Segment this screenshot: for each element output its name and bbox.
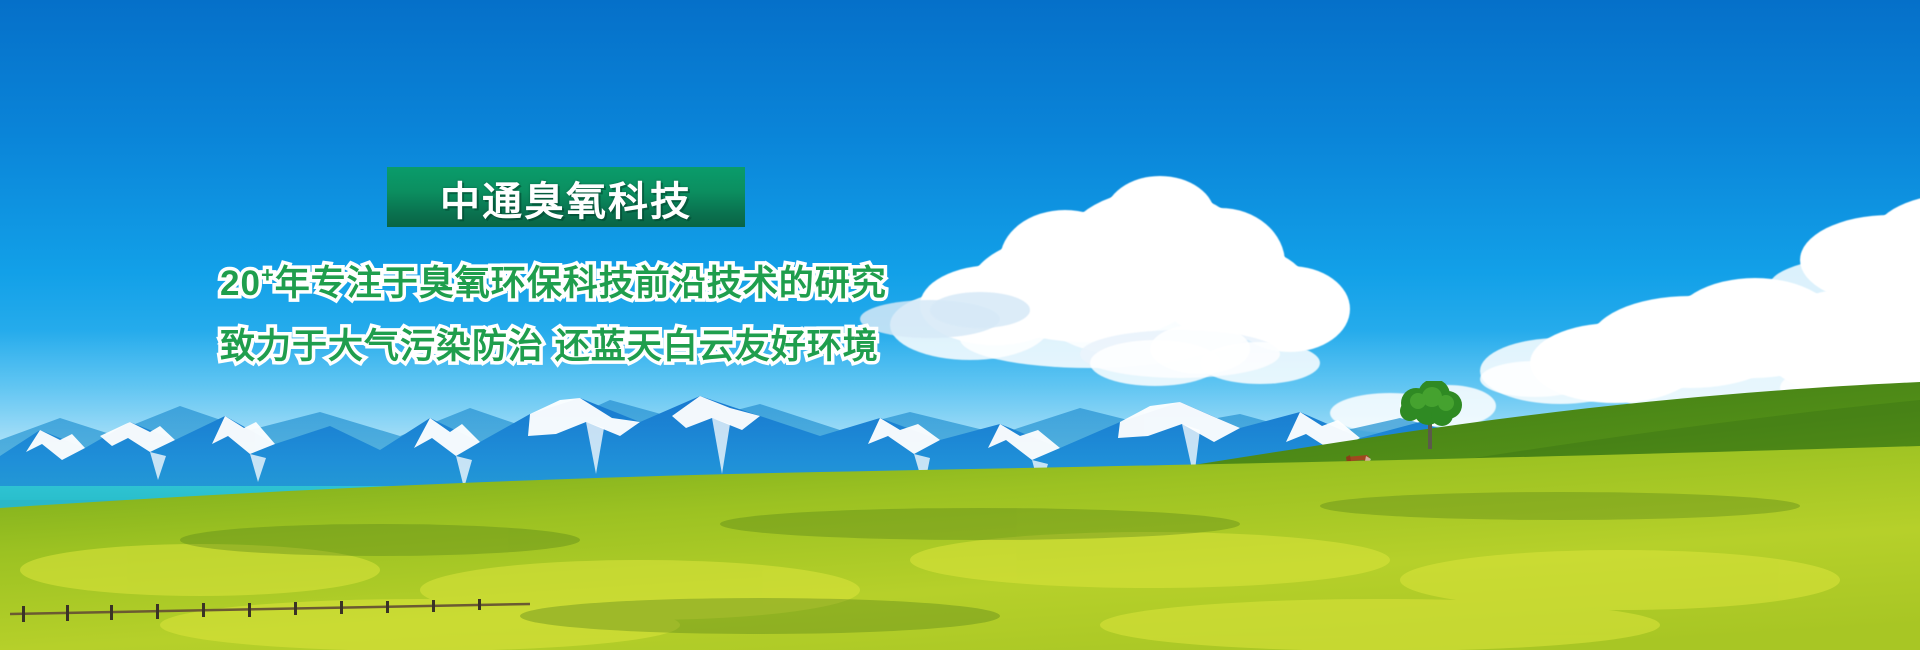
tagline-2-rest: 致力于大气污染防治 还蓝天白云友好环境 (220, 327, 879, 366)
tagline-1-rest: 年专注于臭氧环保科技前沿技术的研究 (275, 264, 887, 303)
hero-banner: 中通臭氧科技 20+年专注于臭氧环保科技前沿技术的研究 致力于大气污染防治 还蓝… (0, 0, 1920, 650)
brand-title-plate: 中通臭氧科技 (387, 167, 745, 227)
brand-title-text: 中通臭氧科技 (440, 169, 692, 227)
tagline-line-1: 20+年专注于臭氧环保科技前沿技术的研究 (220, 255, 887, 306)
fence-line (10, 596, 530, 626)
tagline-1-prefix: 20 (220, 264, 261, 303)
tagline-1-superscript: + (261, 262, 275, 287)
tagline-line-2: 致力于大气污染防治 还蓝天白云友好环境 (220, 318, 879, 369)
